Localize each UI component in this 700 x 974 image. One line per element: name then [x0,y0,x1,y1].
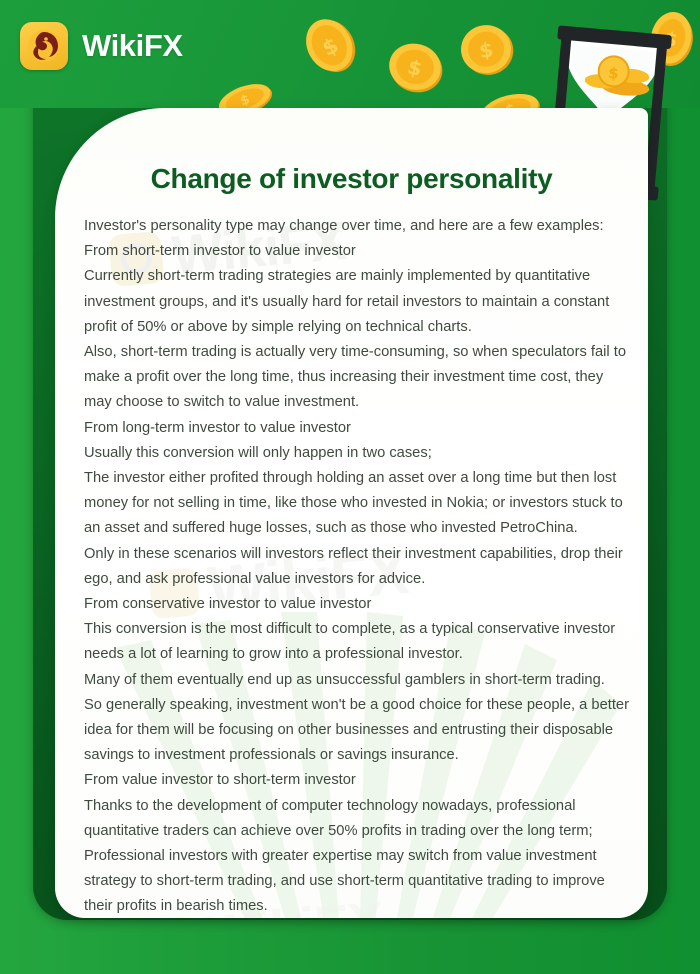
svg-text:$: $ [607,64,619,83]
article-paragraph: Thanks to the development of computer te… [84,794,635,844]
page-title: Change of investor personality [55,163,648,195]
article-body: Investor's personality type may change o… [84,214,635,918]
article-paragraph: From long-term investor to value investo… [84,416,635,441]
article: Change of investor personality Investor'… [55,108,648,918]
article-paragraph: Usually this conversion will only happen… [84,441,635,466]
gold-coin-icon: $ [383,36,449,98]
article-paragraph: Professional investors with greater expe… [84,844,635,918]
brand-lockup: WikiFX [20,22,183,70]
brand-name: WikiFX [82,28,183,64]
article-paragraph: Investor's personality type may change o… [84,214,635,239]
content-card: WikiFX WikiFX WikiFX Change of investor … [55,108,648,918]
article-paragraph: Also, short-term trading is actually ver… [84,340,635,416]
article-paragraph: This conversion is the most difficult to… [84,617,635,667]
article-paragraph: Many of them eventually end up as unsucc… [84,668,635,693]
article-paragraph: So generally speaking, investment won't … [84,693,635,769]
gold-coin-icon: $ [455,18,519,80]
gold-coin-icon: $ [302,12,362,80]
wikifx-eagle-logo-icon [20,22,68,70]
article-paragraph: From value investor to short-term invest… [84,768,635,793]
article-paragraph: From conservative investor to value inve… [84,592,635,617]
article-paragraph: Currently short-term trading strategies … [84,264,635,340]
article-paragraph: Only in these scenarios will investors r… [84,542,635,592]
poster-canvas: $ $ $ [0,0,700,974]
article-paragraph: The investor either profited through hol… [84,466,635,542]
article-paragraph: From short-term investor to value invest… [84,239,635,264]
